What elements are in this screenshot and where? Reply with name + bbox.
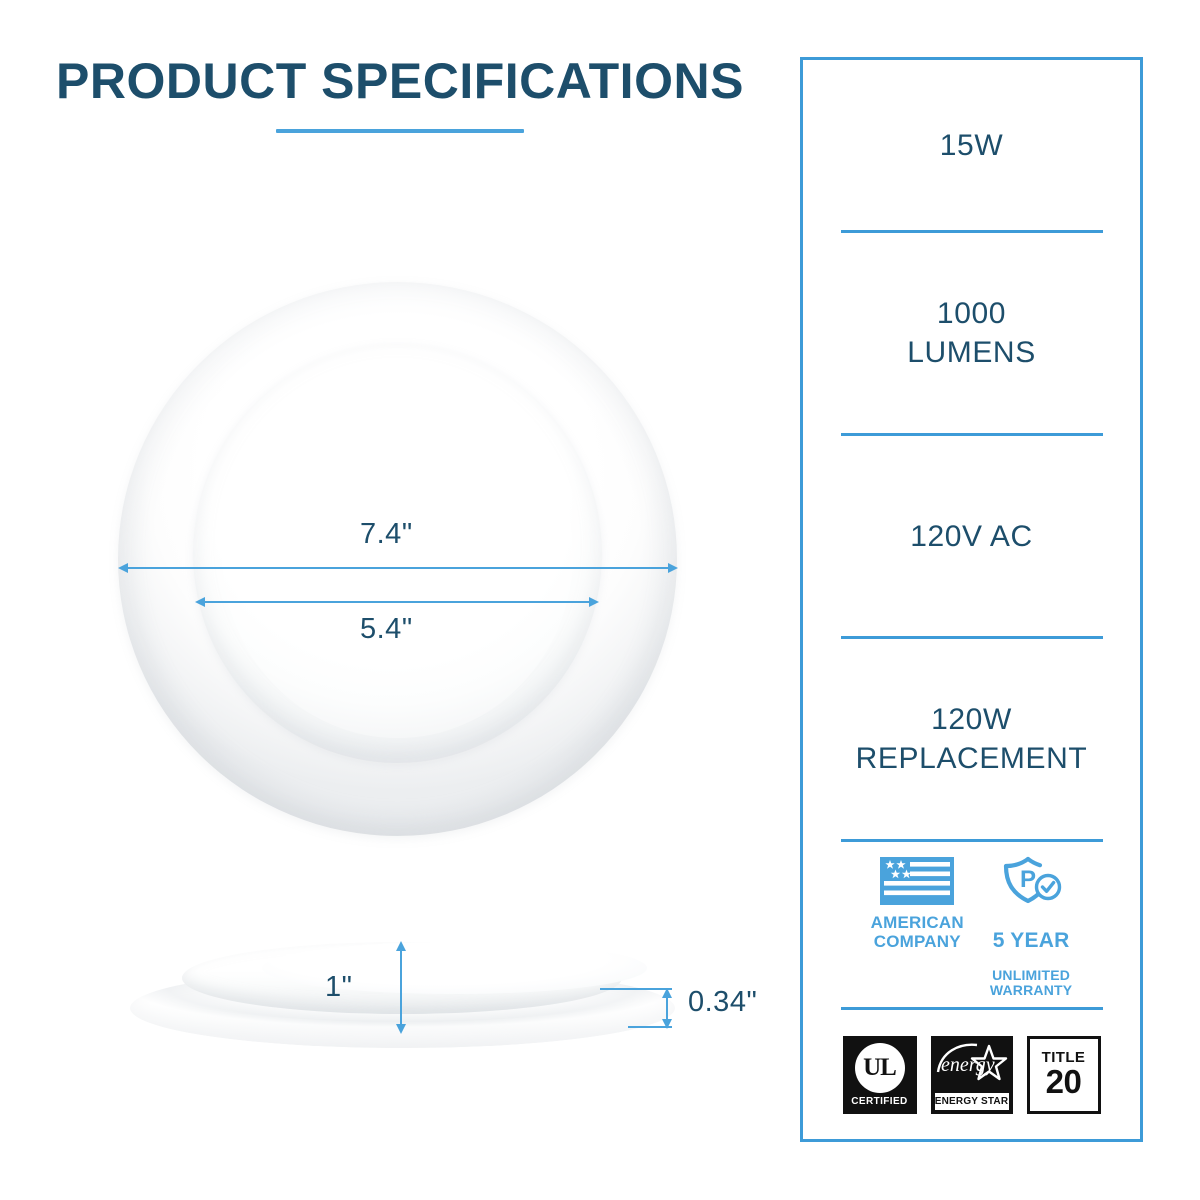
energy-star-logo: energy ENERGY STAR (931, 1036, 1013, 1114)
inner-diameter-label: 5.4" (360, 613, 413, 646)
product-top-view (118, 282, 677, 836)
spec-value-replacement: 120W REPLACEMENT (856, 700, 1088, 778)
inner-diameter-arrow-right-icon (589, 597, 599, 607)
outer-diameter-dimension-line (120, 567, 676, 569)
spec-row-wattage: 15W (803, 60, 1140, 230)
inner-diameter-arrow-left-icon (195, 597, 205, 607)
usa-flag-icon (879, 856, 955, 906)
title-block: PRODUCT SPECIFICATIONS (40, 52, 760, 133)
energy-star-caption: ENERGY STAR (935, 1093, 1009, 1110)
trim-thickness-label: 0.34" (688, 986, 757, 1019)
ul-caption: CERTIFIED (851, 1096, 907, 1107)
spec-row-voltage: 120V AC (803, 436, 1140, 636)
certification-group: UL CERTIFIED energy ENERGY STAR TITLE 20 (803, 1036, 1140, 1114)
energy-star-icon: energy (933, 1038, 1011, 1094)
side-view-dome (182, 942, 622, 1014)
spec-row-certifications: UL CERTIFIED energy ENERGY STAR TITLE 20 (803, 1010, 1140, 1139)
spec-row-badges: AMERICAN COMPANY P 5 YEAR UNLIMITED WARR… (803, 842, 1140, 1007)
height-arrow-up-icon (396, 941, 406, 951)
outer-diameter-arrow-right-icon (668, 563, 678, 573)
trim-arrow-down-icon (662, 1019, 672, 1029)
badge-group: AMERICAN COMPANY P 5 YEAR UNLIMITED WARR… (803, 850, 1140, 999)
spec-value-voltage: 120V AC (910, 517, 1033, 556)
inner-diameter-dimension-line (197, 601, 597, 603)
badge-caption-american-company: AMERICAN COMPANY (871, 913, 964, 951)
height-label: 1" (325, 971, 352, 1004)
page-title: PRODUCT SPECIFICATIONS (40, 52, 760, 111)
side-view-dome-highlight (262, 942, 647, 994)
spec-value-wattage: 15W (940, 126, 1004, 165)
shield-check-icon: P (998, 856, 1064, 906)
title-20-number: 20 (1046, 1065, 1082, 1100)
spec-row-lumens: 1000 LUMENS (803, 233, 1140, 433)
disc-inner-face (222, 369, 574, 738)
badge-warranty-years: 5 YEAR (990, 929, 1072, 953)
title-20-logo: TITLE 20 (1027, 1036, 1101, 1114)
badge-caption-warranty: 5 YEAR UNLIMITED WARRANTY (990, 913, 1072, 999)
outer-diameter-arrow-left-icon (118, 563, 128, 573)
trim-arrow-up-icon (662, 988, 672, 998)
badge-warranty: P 5 YEAR UNLIMITED WARRANTY (990, 856, 1072, 999)
disc-inner-lens (193, 344, 602, 763)
specification-panel: 15W 1000 LUMENS 120V AC 120W REPLACEMENT (800, 57, 1143, 1142)
height-dimension-line (400, 944, 402, 1032)
ul-mark: UL (855, 1043, 905, 1093)
outer-diameter-label: 7.4" (360, 518, 413, 551)
ul-certified-logo: UL CERTIFIED (843, 1036, 917, 1114)
height-arrow-down-icon (396, 1024, 406, 1034)
svg-text:P: P (1020, 866, 1036, 893)
spec-value-lumens: 1000 LUMENS (907, 294, 1036, 372)
spec-row-replacement: 120W REPLACEMENT (803, 639, 1140, 839)
badge-warranty-terms: UNLIMITED WARRANTY (990, 967, 1072, 999)
badge-american-company: AMERICAN COMPANY (871, 856, 964, 951)
title-underline (276, 129, 524, 133)
